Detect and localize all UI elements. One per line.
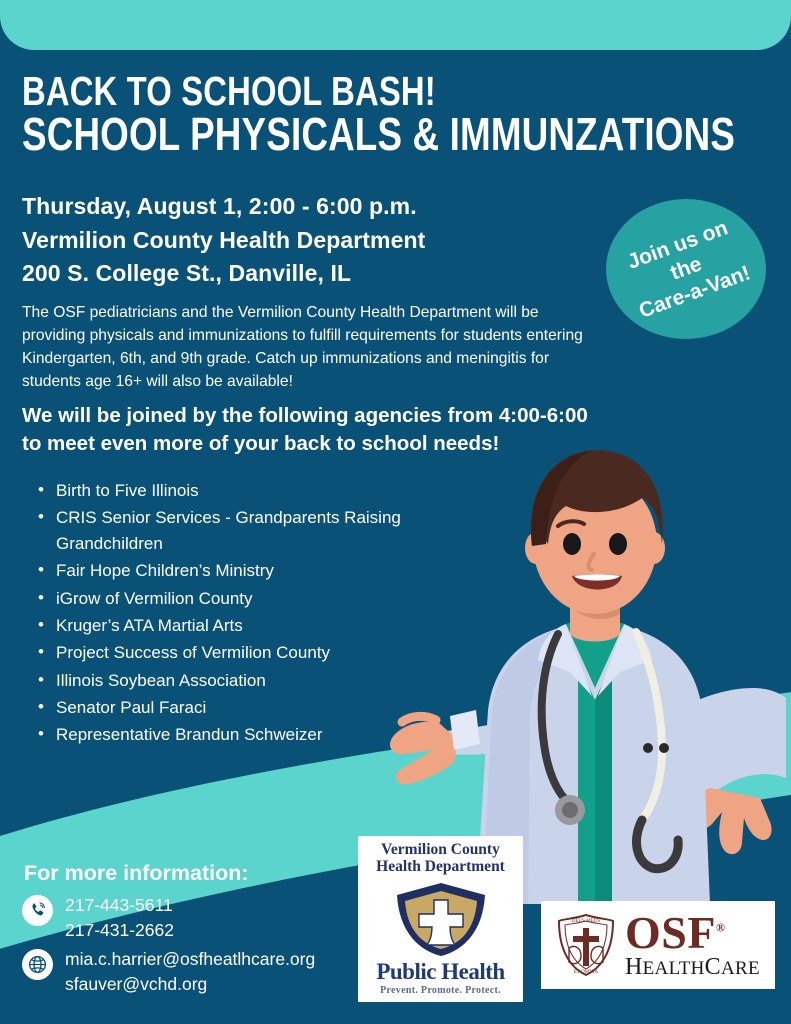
contact-heading: For more information: — [24, 861, 249, 886]
list-item: Project Success of Vermilion County — [36, 640, 406, 666]
osf-name-text: OSF — [625, 907, 716, 958]
joined-by-heading: We will be joined by the following agenc… — [22, 402, 612, 459]
description-paragraph: The OSF pediatricians and the Vermilion … — [22, 302, 587, 394]
list-item: CRIS Senior Services - Grandparents Rais… — [36, 505, 406, 557]
page-title: BACK TO SCHOOL BASH! SCHOOL PHYSICALS & … — [22, 72, 582, 156]
event-datetime: Thursday, August 1, 2:00 - 6:00 p.m. — [22, 190, 622, 224]
care-a-van-badge: Join us on the Care-a-Van! — [606, 199, 766, 339]
vchd-line-1: Vermilion County — [376, 841, 505, 858]
phone-icon — [22, 895, 53, 926]
flyer-page: BACK TO SCHOOL BASH! SCHOOL PHYSICALS & … — [0, 0, 791, 1024]
osf-healthcare-text: HEALTHCARE — [625, 956, 760, 978]
vchd-tagline: Prevent. Promote. Protect. — [380, 985, 501, 996]
list-item: Birth to Five Illinois — [36, 478, 406, 504]
vchd-line-2: Health Department — [376, 858, 505, 875]
list-item: Kruger’s ATA Martial Arts — [36, 613, 406, 639]
osf-crest-icon: DEUS MEUS ET OMNIA — [555, 912, 617, 978]
phone-number-2: 217-431-2662 — [65, 918, 174, 943]
top-teal-band — [0, 0, 791, 50]
contact-phone-row: 217-443-5611 217-431-2662 — [22, 893, 174, 943]
vchd-public-health: Public Health — [376, 960, 504, 983]
osf-logo: DEUS MEUS ET OMNIA OSF® HEALTHCARE — [541, 901, 775, 989]
svg-text:DEUS MEUS: DEUS MEUS — [572, 919, 600, 924]
email-2: sfauver@vchd.org — [65, 972, 315, 997]
globe-icon — [22, 949, 53, 980]
osf-name: OSF® — [625, 912, 760, 954]
phone-numbers: 217-443-5611 217-431-2662 — [65, 893, 174, 943]
list-item: Representative Brandun Schweizer — [36, 722, 406, 748]
list-item: Illinois Soybean Association — [36, 668, 406, 694]
contact-email-row: mia.c.harrier@osfheatlhcare.org sfauver@… — [22, 947, 315, 997]
list-item: Fair Hope Children’s Ministry — [36, 558, 406, 584]
list-item: Senator Paul Faraci — [36, 695, 406, 721]
agency-list: Birth to Five Illinois CRIS Senior Servi… — [36, 478, 406, 750]
email-addresses: mia.c.harrier@osfheatlhcare.org sfauver@… — [65, 947, 315, 997]
osf-ealth: EALTH — [643, 958, 705, 979]
osf-registered-mark: ® — [716, 921, 725, 935]
headline-line-2: SCHOOL PHYSICALS & IMMUNZATIONS — [22, 112, 582, 157]
email-1: mia.c.harrier@osfheatlhcare.org — [65, 947, 315, 972]
event-address: 200 S. College St., Danville, IL — [22, 257, 622, 291]
osf-wordmark: OSF® HEALTHCARE — [625, 912, 760, 977]
event-details: Thursday, August 1, 2:00 - 6:00 p.m. Ver… — [22, 190, 622, 291]
vchd-logo: Vermilion County Health Department Publi… — [358, 836, 523, 1002]
osf-are: ARE — [721, 958, 760, 979]
shield-cross-icon — [393, 880, 489, 958]
headline-line-1: BACK TO SCHOOL BASH! — [22, 72, 582, 112]
event-venue: Vermilion County Health Department — [22, 224, 622, 258]
phone-number-1: 217-443-5611 — [65, 893, 174, 918]
vchd-name: Vermilion County Health Department — [376, 841, 505, 876]
list-item: iGrow of Vermilion County — [36, 586, 406, 612]
svg-text:ET OMNIA: ET OMNIA — [574, 970, 599, 975]
